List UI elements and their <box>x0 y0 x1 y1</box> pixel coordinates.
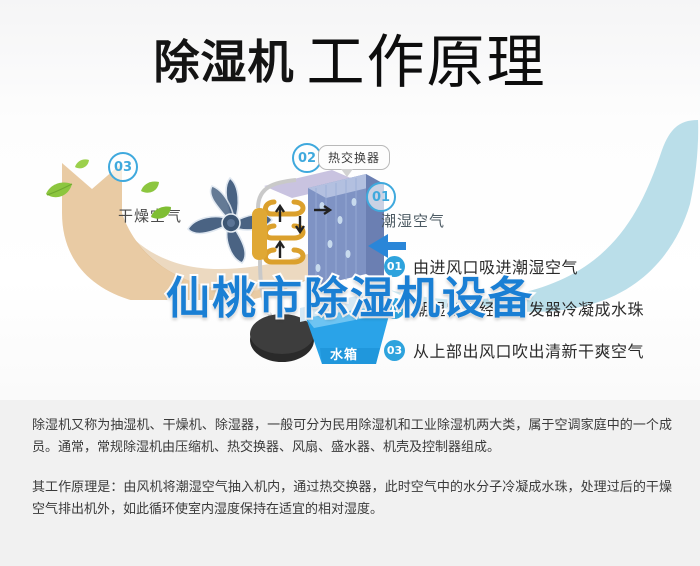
leaf-icon <box>44 180 74 202</box>
paragraph-two: 其工作原理是：由风机将潮湿空气抽入机内，通过热交换器，此时空气中的水分子冷凝成水… <box>32 477 672 521</box>
title-part-one: 除湿机 <box>153 39 294 85</box>
step-text: 从上部出风口吹出清新干爽空气 <box>413 338 644 362</box>
list-item: 01 由进风口吸进潮湿空气 <box>384 252 684 280</box>
step-text: 潮湿空气经过蒸发器冷凝成水珠 <box>413 296 644 320</box>
body-copy: 除湿机又称为抽湿机、干燥机、除湿器，一般可分为民用除湿机和工业除湿机两大类，属于… <box>32 415 672 539</box>
list-item: 02 潮湿空气经过蒸发器冷凝成水珠 <box>384 294 684 322</box>
water-tank-label: 水箱 <box>330 344 358 363</box>
list-item: 03 从上部出风口吹出清新干爽空气 <box>384 336 684 364</box>
diagram-badge-01: 01 <box>366 182 396 212</box>
step-number: 02 <box>384 298 405 319</box>
step-list: 01 由进风口吸进潮湿空气 02 潮湿空气经过蒸发器冷凝成水珠 03 从上部出风… <box>384 252 684 378</box>
leaf-icon <box>140 180 160 196</box>
paragraph-one: 除湿机又称为抽湿机、干燥机、除湿器，一般可分为民用除湿机和工业除湿机两大类，属于… <box>32 415 672 459</box>
step-text: 由进风口吸进潮湿空气 <box>413 254 578 278</box>
infographic-page: 除湿机 工作原理 干燥空气 <box>0 0 700 566</box>
heat-exchanger-callout: 热交换器 <box>318 145 390 170</box>
page-title: 除湿机 工作原理 <box>0 26 700 98</box>
humid-air-label: 潮湿空气 <box>381 210 445 231</box>
infographic-hero: 除湿机 工作原理 干燥空气 <box>0 0 700 400</box>
step-number: 01 <box>384 256 405 277</box>
diagram-badge-03: 03 <box>108 152 138 182</box>
title-part-two: 工作原理 <box>306 33 546 91</box>
step-number: 03 <box>384 340 405 361</box>
leaf-icon <box>150 205 172 222</box>
leaf-icon <box>74 158 90 172</box>
